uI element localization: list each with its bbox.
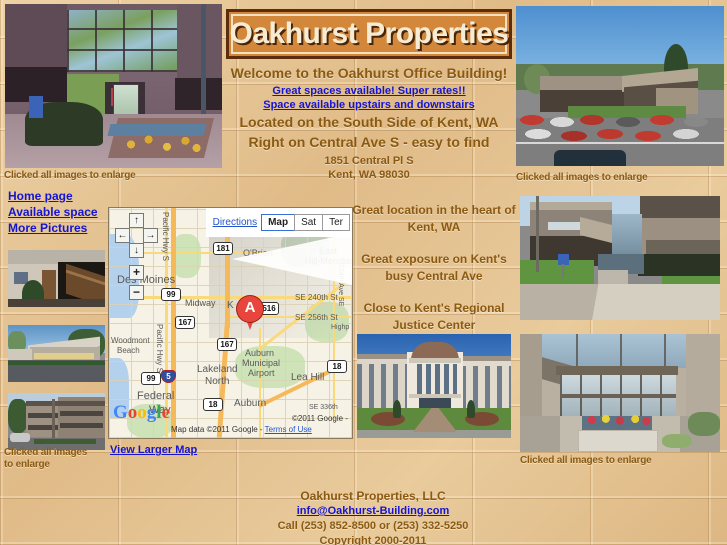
- map-pan-up-button[interactable]: ↑: [129, 213, 144, 228]
- caption-top-left: Clicked all images to enlarge: [4, 170, 135, 181]
- photo-building-entrance[interactable]: [5, 4, 222, 168]
- view-larger-map-link[interactable]: View Larger Map: [110, 444, 197, 456]
- map-shield-18-b: 18: [203, 398, 223, 411]
- map-terms-link[interactable]: Terms of Use: [265, 425, 312, 434]
- sidebar-nav: Home page Available space More Pictures: [8, 188, 123, 236]
- photo-regional-justice-center[interactable]: [357, 334, 511, 438]
- map-tab-ter[interactable]: Ter: [322, 214, 350, 231]
- map-shield-167-b: 167: [217, 338, 237, 351]
- sidebar-item-available-space[interactable]: Available space: [8, 204, 123, 220]
- google-logo-letter-g2: g: [147, 402, 157, 423]
- map-attribution-text: Map data ©2011 Google -: [171, 425, 263, 434]
- map-zoom-out-button[interactable]: −: [129, 285, 144, 300]
- map-shield-181: 181: [213, 242, 233, 255]
- footer: Oakhurst Properties, LLC info@Oakhurst-B…: [233, 488, 513, 545]
- map-shield-99-b: 99: [141, 372, 161, 385]
- map-zoom-in-button[interactable]: +: [129, 265, 144, 280]
- caption-top-right: Clicked all images to enlarge: [516, 172, 647, 183]
- caption-bottom-right: Clicked all images to enlarge: [520, 455, 651, 466]
- location-line-2: Right on Central Ave S - easy to find: [226, 133, 512, 151]
- footer-company-name: Oakhurst Properties, LLC: [233, 488, 513, 504]
- photo-courtyard-walkway[interactable]: [520, 196, 720, 320]
- map-pan-left-button[interactable]: ←: [115, 228, 130, 243]
- info-blurb-3: Close to Kent's Regional Justice Center: [352, 300, 516, 334]
- map-location-marker[interactable]: A: [237, 296, 263, 330]
- map-shield-167-a: 167: [175, 316, 195, 329]
- footer-email-link[interactable]: info@Oakhurst-Building.com: [297, 505, 450, 517]
- promo-link-1[interactable]: Great spaces available! Super rates!!: [272, 85, 465, 97]
- info-blurb-2: Great exposure on Kent's busy Central Av…: [352, 251, 516, 285]
- map-tab-sat[interactable]: Sat: [294, 214, 323, 231]
- map-pan-down-button[interactable]: ↓: [129, 243, 144, 258]
- footer-phone: Call (253) 852-8500 or (253) 332-5250: [233, 519, 513, 534]
- sidebar-item-more-pictures[interactable]: More Pictures: [8, 220, 123, 236]
- caption-bottom-left-line-1: Clicked all images: [4, 447, 87, 458]
- photo-building-parking[interactable]: [516, 6, 724, 166]
- page-root: Clicked all images to enlarge Oakhurst P…: [0, 0, 727, 545]
- footer-copyright: Copyright 2000-2011: [233, 534, 513, 545]
- site-title: Oakhurst Properties: [230, 19, 509, 49]
- map-attribution-right: ©2011 Google -: [292, 414, 348, 423]
- map-shield-99-a: 99: [161, 288, 181, 301]
- address-line-1: 1851 Central Pl S: [226, 154, 512, 169]
- map-directions-link[interactable]: Directions: [213, 217, 257, 228]
- map-callout-fan: [232, 233, 352, 285]
- google-logo-letter-o1: o: [128, 402, 138, 423]
- map-shield-18-a: 18: [327, 360, 347, 373]
- photo-lobby-interior[interactable]: [8, 250, 105, 307]
- marker-letter: A: [237, 298, 263, 317]
- address-line-2: Kent, WA 98030: [226, 168, 512, 183]
- footer-email-wrap: info@Oakhurst-Building.com: [233, 504, 513, 519]
- map-pan-right-button[interactable]: →: [143, 228, 158, 243]
- caption-bottom-left-line-2: to enlarge: [4, 459, 50, 470]
- site-title-banner: Oakhurst Properties: [226, 9, 512, 59]
- map-attribution: Map data ©2011 Google - Terms of Use: [171, 425, 312, 434]
- google-logo: Google: [113, 403, 170, 422]
- location-line-1: Located on the South Side of Kent, WA: [226, 113, 512, 131]
- sidebar-item-home-page[interactable]: Home page: [8, 188, 123, 204]
- promo-link-2[interactable]: Space available upstairs and downstairs: [263, 99, 475, 111]
- promo-link-2-wrap: Space available upstairs and downstairs: [226, 98, 512, 113]
- info-blurbs: Great location in the heart of Kent, WA …: [352, 202, 516, 349]
- photo-office-exterior-daylight[interactable]: [8, 325, 105, 382]
- info-blurb-1: Great location in the heart of Kent, WA: [352, 202, 516, 236]
- google-logo-letter-g: G: [113, 402, 128, 423]
- photo-office-building-corner[interactable]: [8, 393, 105, 450]
- google-map[interactable]: Des Moines Midway Woodmont Beach O'Brien…: [108, 207, 353, 439]
- google-logo-letter-o2: o: [137, 402, 147, 423]
- promo-link-1-wrap: Great spaces available! Super rates!!: [226, 84, 512, 99]
- welcome-heading: Welcome to the Oakhurst Office Building!: [226, 64, 512, 82]
- map-toolbar: Directions Map Sat Ter: [206, 208, 352, 237]
- photo-entrance-fountain[interactable]: [520, 334, 720, 452]
- google-logo-letter-e: e: [162, 402, 170, 423]
- map-tab-map[interactable]: Map: [261, 214, 295, 231]
